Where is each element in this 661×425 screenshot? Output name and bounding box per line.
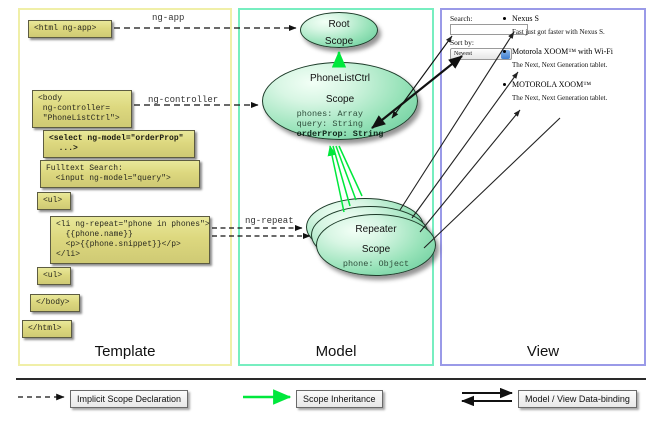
panel-template-label: Template	[20, 343, 230, 360]
diagram-canvas: Template Model View <html ng-app> <body …	[0, 0, 661, 425]
list-item[interactable]: Motorola XOOM™ with Wi-Fi The Next, Next…	[512, 47, 640, 70]
scope-root-title-1: Root	[301, 13, 377, 30]
scope-ctrl-props: phones: Array query: String orderProp: S…	[297, 109, 384, 139]
code-box-body-close: </body>	[30, 294, 80, 312]
list-item[interactable]: MOTOROLA XOOM™ The Next, Next Generation…	[512, 80, 640, 103]
legend-glyph-double-arrow	[462, 393, 512, 401]
legend-item-implicit-scope-declaration: Implicit Scope Declaration	[70, 390, 188, 408]
edge-label-ng-repeat: ng-repeat	[245, 216, 294, 226]
scope-repeater: Repeater Scope phone: Object	[316, 214, 436, 276]
scope-ctrl-prop-query: query: String	[297, 119, 384, 129]
phone-name: MOTOROLA XOOM™	[512, 80, 640, 90]
bullet-icon	[503, 50, 506, 53]
edge-label-ng-app: ng-app	[152, 13, 184, 23]
scope-ctrl-title-1: PhoneListCtrl	[263, 63, 417, 84]
code-box-html-open: <html ng-app>	[28, 20, 112, 38]
scope-ctrl-title-2: Scope	[263, 84, 417, 105]
scope-ctrl-prop-orderprop: orderProp: String	[297, 129, 384, 139]
code-box-body-open: <body ng-controller= "PhoneListCtrl">	[32, 90, 132, 128]
code-box-li-repeat: <li ng-repeat="phone in phones"> {{phone…	[50, 216, 210, 264]
panel-view-label: View	[442, 343, 644, 360]
code-box-html-close: </html>	[22, 320, 72, 338]
code-box-select-tag: <select ng-model="orderProp" ...>	[43, 130, 195, 158]
phone-name: Motorola XOOM™ with Wi-Fi	[512, 47, 640, 57]
phone-list: Nexus S Fast just got faster with Nexus …	[512, 14, 640, 113]
code-box-ul-close: <ul>	[37, 267, 71, 285]
legend-item-model-view-data-binding: Model / View Data-binding	[518, 390, 637, 408]
scope-phonelistctrl: PhoneListCtrl Scope phones: Array query:…	[262, 62, 418, 140]
bullet-icon	[503, 17, 506, 20]
sort-by-selected-value: Newest	[454, 51, 472, 57]
scope-root: Root Scope	[300, 12, 378, 48]
phone-snippet: Fast just got faster with Nexus S.	[512, 28, 640, 37]
scope-repeater-title-2: Scope	[317, 235, 435, 255]
code-box-input-tag: Fulltext Search: <input ng-model="query"…	[40, 160, 200, 188]
panel-model-label: Model	[240, 343, 432, 360]
edge-label-ng-controller: ng-controller	[148, 95, 218, 105]
code-box-ul-open: <ul>	[37, 192, 71, 210]
legend-divider	[16, 378, 646, 380]
phone-snippet: The Next, Next Generation tablet.	[512, 61, 640, 70]
scope-repeater-prop-phone: phone: Object	[317, 259, 435, 269]
legend-item-scope-inheritance: Scope Inheritance	[296, 390, 383, 408]
scope-ctrl-prop-phones: phones: Array	[297, 109, 384, 119]
bullet-icon	[503, 83, 506, 86]
list-item[interactable]: Nexus S Fast just got faster with Nexus …	[512, 14, 640, 37]
phone-name: Nexus S	[512, 14, 640, 24]
scope-root-title-2: Scope	[301, 30, 377, 47]
phone-snippet: The Next, Next Generation tablet.	[512, 94, 640, 103]
view-browser-mock: Search: Sort by: Newest Nexus S Fast jus…	[450, 14, 640, 344]
scope-repeater-title-1: Repeater	[317, 215, 435, 235]
